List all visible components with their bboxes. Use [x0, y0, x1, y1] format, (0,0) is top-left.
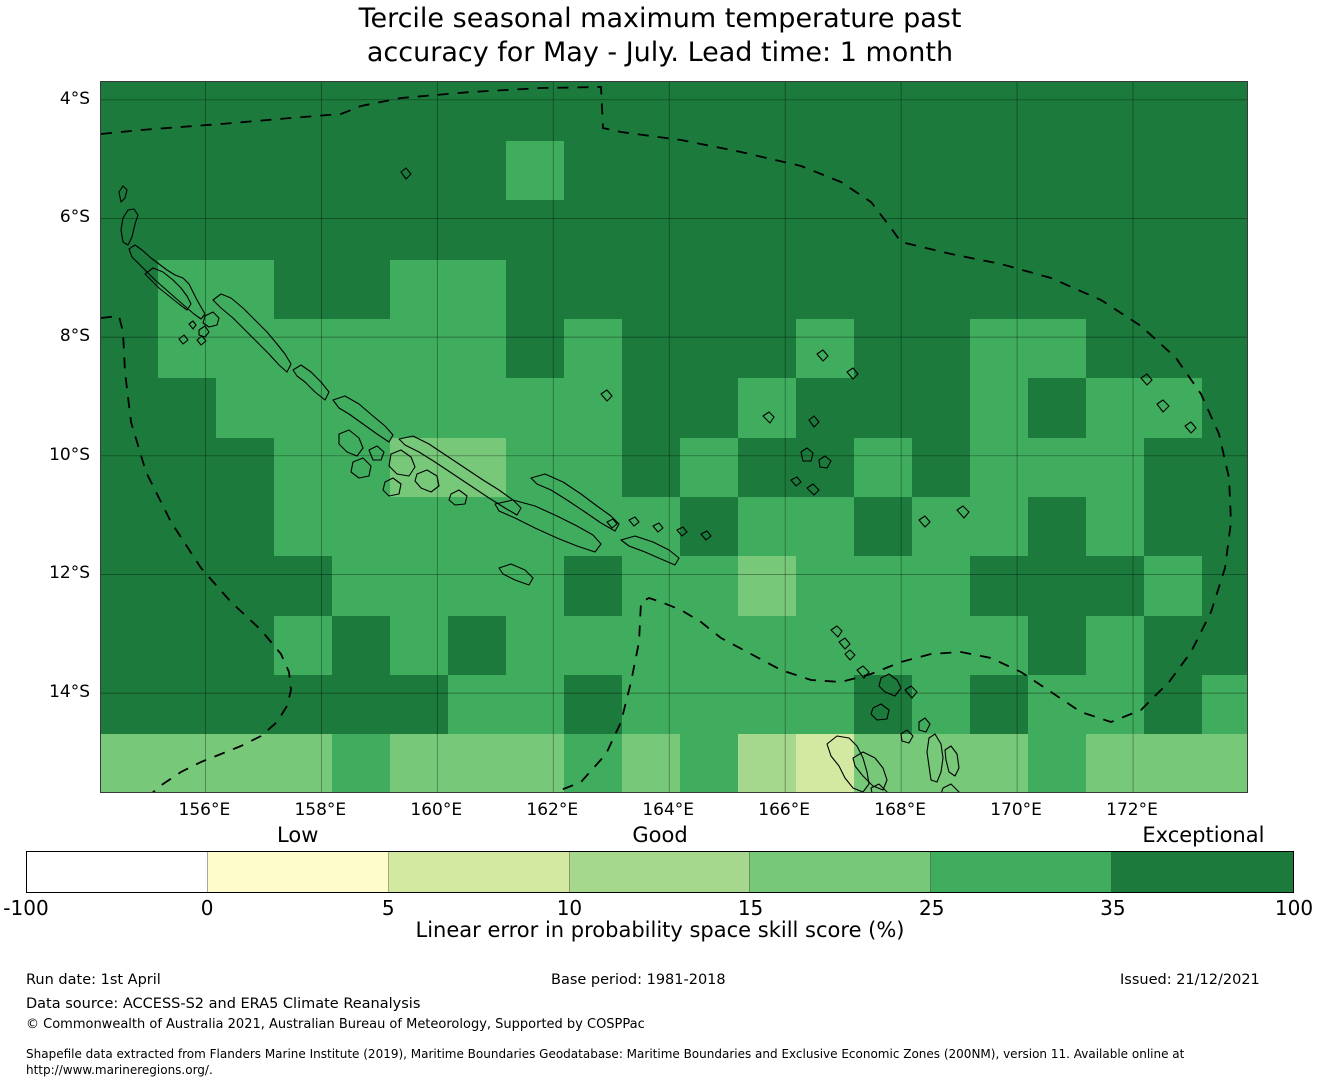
- y-axis-tick-label: 14°S: [4, 682, 90, 702]
- climate-map-figure: Tercile seasonal maximum temperature pas…: [0, 0, 1320, 1080]
- colorbar-segment: [27, 852, 208, 892]
- x-axis-tick-label: 162°E: [492, 800, 612, 820]
- x-axis-tick-label: 166°E: [724, 800, 844, 820]
- colorbar-tick-label: 0: [147, 896, 267, 920]
- colorbar-segment: [1112, 852, 1293, 892]
- y-axis-tick-label: 8°S: [4, 326, 90, 346]
- colorbar-tick-label: 35: [1053, 896, 1173, 920]
- colorbar-segment: [389, 852, 570, 892]
- y-axis-tick-label: 12°S: [4, 563, 90, 583]
- colorbar-tick-label: 100: [1234, 896, 1320, 920]
- footer-base-period: Base period: 1981-2018: [551, 972, 726, 988]
- footer-run-date: Run date: 1st April: [26, 972, 161, 988]
- page-title: Tercile seasonal maximum temperature pas…: [0, 2, 1320, 70]
- colorbar-segment: [750, 852, 931, 892]
- colorbar-category-label: Good: [560, 823, 760, 847]
- colorbar-segment: [931, 852, 1112, 892]
- colorbar-axis-label: Linear error in probability space skill …: [0, 918, 1320, 942]
- colorbar-category-label: Exceptional: [1103, 823, 1303, 847]
- x-axis-tick-label: 160°E: [376, 800, 496, 820]
- colorbar: [26, 851, 1294, 893]
- colorbar-tick-label: 10: [509, 896, 629, 920]
- colorbar-tick-label: 15: [691, 896, 811, 920]
- x-axis-tick-label: 172°E: [1072, 800, 1192, 820]
- colorbar-gradient: [26, 851, 1294, 893]
- footer-copyright: © Commonwealth of Australia 2021, Austra…: [26, 1016, 645, 1033]
- y-axis-tick-label: 4°S: [4, 89, 90, 109]
- x-axis-tick-label: 164°E: [608, 800, 728, 820]
- map-plot-frame: [100, 81, 1248, 793]
- colorbar-segment: [570, 852, 751, 892]
- map-plot[interactable]: [100, 81, 1248, 793]
- colorbar-tick-label: 25: [872, 896, 992, 920]
- footer-shapefile-line2: http://www.marineregions.org/.: [26, 1062, 213, 1079]
- x-axis-tick-label: 156°E: [144, 800, 264, 820]
- x-axis-tick-label: 170°E: [956, 800, 1076, 820]
- colorbar-tick-label: 5: [328, 896, 448, 920]
- footer-data-source: Data source: ACCESS-S2 and ERA5 Climate …: [26, 996, 420, 1012]
- y-axis-tick-label: 10°S: [4, 445, 90, 465]
- eez-boundary: [101, 82, 1248, 793]
- footer-shapefile-line1: Shapefile data extracted from Flanders M…: [26, 1046, 1184, 1063]
- colorbar-segment: [208, 852, 389, 892]
- colorbar-category-label: Low: [198, 823, 398, 847]
- x-axis-tick-label: 168°E: [840, 800, 960, 820]
- x-axis-tick-label: 158°E: [260, 800, 380, 820]
- y-axis-tick-label: 6°S: [4, 207, 90, 227]
- colorbar-tick-label: -100: [0, 896, 86, 920]
- footer-issued: Issued: 21/12/2021: [1120, 972, 1260, 988]
